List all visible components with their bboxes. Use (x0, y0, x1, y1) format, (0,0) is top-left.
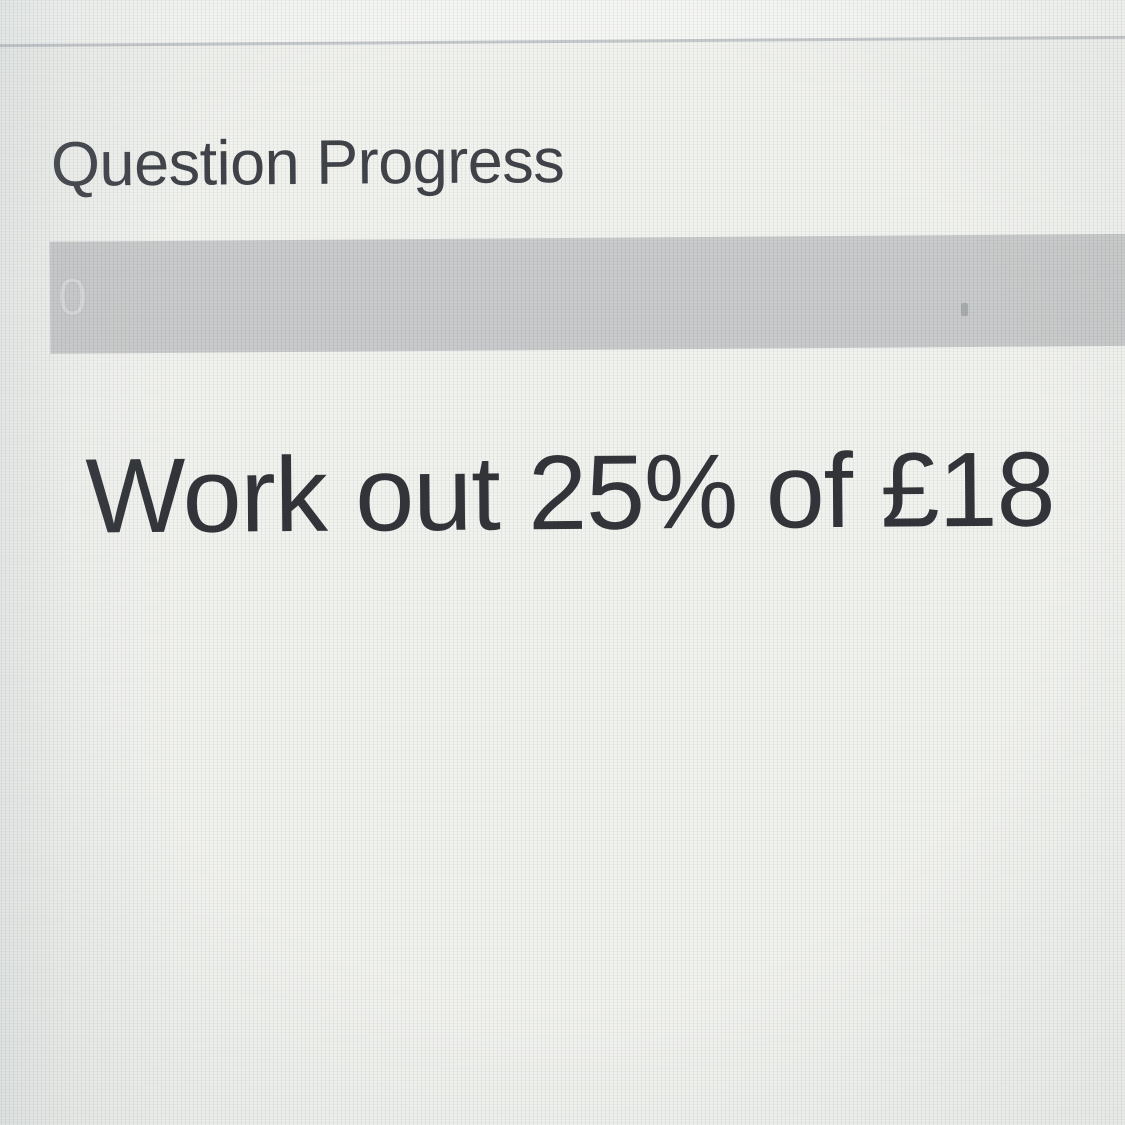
question-progress-value: 0 (58, 271, 87, 323)
question-progress-fill (50, 242, 51, 354)
question-progress-bar: 0 (50, 234, 1125, 354)
dust-speck (961, 303, 968, 316)
page-title: Question Progress (51, 130, 565, 197)
quiz-page: Question Progress 0 Work out 25% of £18 (0, 0, 1125, 1125)
question-text: Work out 25% of £18 (85, 436, 1055, 549)
screen-photo: Question Progress 0 Work out 25% of £18 (0, 0, 1125, 1125)
